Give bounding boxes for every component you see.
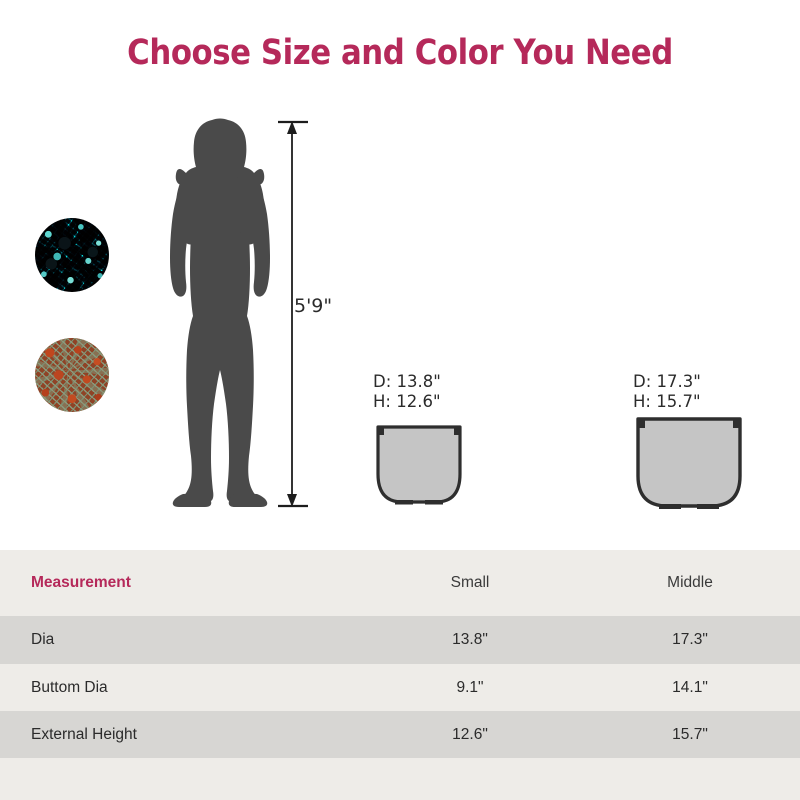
page-title: Choose Size and Color You Need [48, 33, 752, 73]
infographic-page: Choose Size and Color You Need 5'9" [0, 0, 800, 800]
color-swatch-rust-texture [35, 338, 109, 412]
table-cell-label-external-height: External Height [0, 726, 360, 744]
table-cell-buttom-dia-small: 9.1" [360, 679, 580, 697]
pot-middle-label: D: 17.3" H: 15.7" [633, 372, 745, 412]
color-swatch-teal[interactable] [35, 218, 109, 292]
hero-illustration: 5'9" D: 13.8" H: 12.6" D: 17.3" H: 15.7" [0, 100, 800, 550]
table-header-middle: Middle [580, 574, 800, 592]
table-cell-external-height-small: 12.6" [360, 726, 580, 744]
color-swatch-rust[interactable] [35, 338, 109, 412]
table-cell-dia-middle: 17.3" [580, 631, 800, 649]
pot-small-shape [373, 422, 465, 514]
pot-middle-shape [633, 414, 745, 514]
pot-middle[interactable]: D: 17.3" H: 15.7" [633, 372, 745, 514]
table-cell-label-dia: Dia [0, 631, 360, 649]
table-header-row: Measurement Small Middle [0, 550, 800, 616]
specification-table: Measurement Small Middle Dia 13.8" 17.3"… [0, 550, 800, 800]
pot-small-label: D: 13.8" H: 12.6" [373, 372, 465, 412]
table-row: Dia 13.8" 17.3" [0, 616, 800, 664]
color-swatch-teal-texture [35, 218, 109, 292]
table-row: Buttom Dia 9.1" 14.1" [0, 664, 800, 711]
table-cell-dia-small: 13.8" [360, 631, 580, 649]
table-cell-label-buttom-dia: Buttom Dia [0, 679, 360, 697]
pot-small[interactable]: D: 13.8" H: 12.6" [373, 372, 465, 514]
table-cell-external-height-middle: 15.7" [580, 726, 800, 744]
table-header-measurement: Measurement [0, 574, 360, 592]
table-cell-buttom-dia-middle: 14.1" [580, 679, 800, 697]
height-dimension-label: 5'9" [294, 295, 332, 317]
table-header-small: Small [360, 574, 580, 592]
table-row: External Height 12.6" 15.7" [0, 711, 800, 758]
